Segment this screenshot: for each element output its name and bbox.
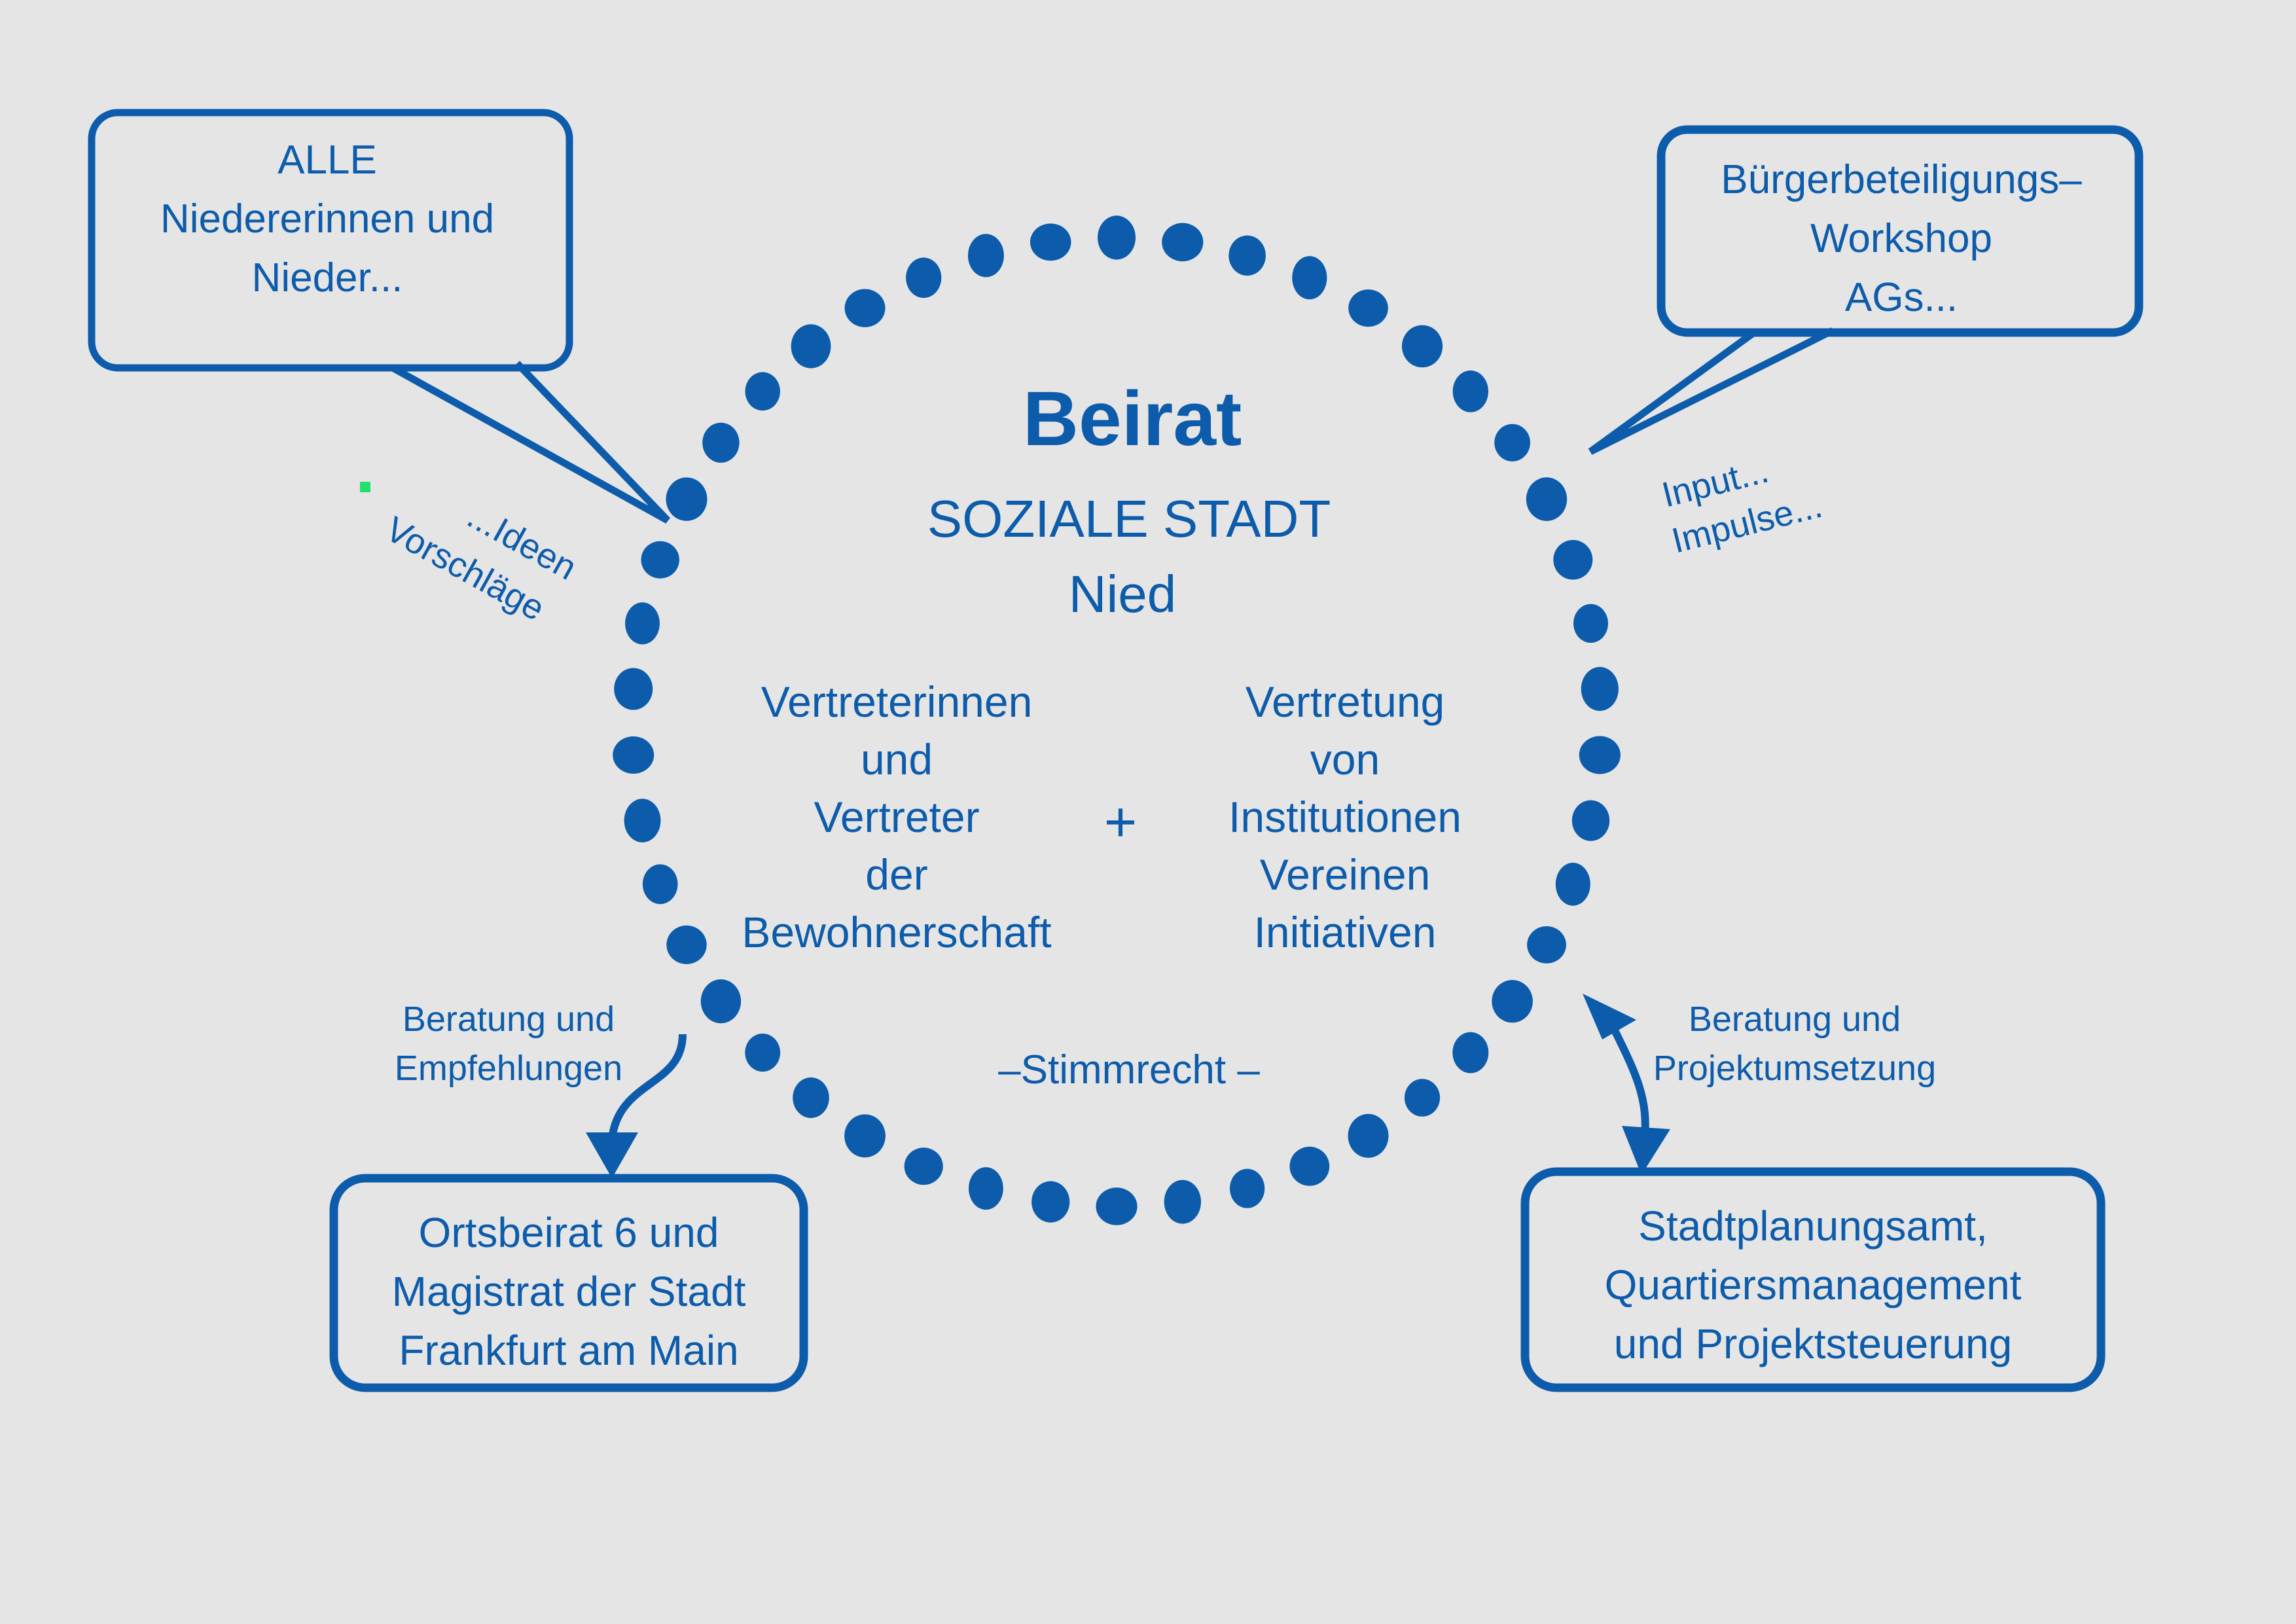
right-column-line-1: Vertretung — [1246, 677, 1445, 726]
left-column-line-3: Vertreter — [814, 793, 979, 841]
ring-dot — [1230, 1169, 1265, 1208]
ring-dot — [702, 423, 739, 463]
ring-dot — [1579, 736, 1621, 774]
speech-bubble-top-left-tail — [393, 363, 668, 520]
ring-dot — [1553, 540, 1592, 580]
ring-dot — [1402, 325, 1443, 368]
ring-dot — [625, 602, 660, 644]
arrow-left-lower-line — [612, 1034, 683, 1139]
ring-dot — [701, 979, 741, 1023]
bubble-top-left-line-3: Nieder... — [252, 255, 403, 300]
bubble-top-left-line-2: Niedererinnen und — [160, 196, 494, 242]
box-bottom-right-line-3: und Projektsteuerung — [1614, 1320, 2012, 1367]
ring-dot — [1229, 236, 1266, 276]
box-bottom-left-line-1: Ortsbeirat 6 und — [419, 1209, 719, 1256]
ring-dot — [791, 324, 831, 368]
ring-dot — [1348, 1114, 1389, 1158]
bubble-top-right-line-1: Bürgerbeteiligungs– — [1721, 157, 2082, 202]
ring-dot — [968, 234, 1004, 277]
left-column-line-5: Bewohnerschaft — [742, 908, 1051, 956]
voting-rights-note: –Stimmrecht – — [998, 1047, 1260, 1092]
diagram-canvas: Beirat SOZIALE STADT Nied Vertreterinnen… — [0, 0, 2296, 1624]
ring-dot — [1494, 424, 1530, 461]
ring-dot — [1289, 1147, 1329, 1186]
ring-dot — [745, 372, 780, 411]
bubble-top-left-line-1: ALLE — [278, 137, 377, 183]
ring-dot — [1527, 926, 1566, 964]
ring-dot — [1492, 980, 1533, 1022]
ring-dot — [666, 477, 708, 520]
ring-dot — [1452, 1032, 1488, 1074]
right-column-line-5: Initiativen — [1254, 908, 1437, 956]
annotation-right-lower-line-1: Beratung und — [1689, 1000, 1901, 1039]
ring-dot — [845, 289, 886, 327]
ring-dot — [1453, 370, 1488, 412]
arrow-right-lower-head-up-icon — [1583, 994, 1636, 1039]
box-bottom-right-line-1: Stadtplanungsamt, — [1638, 1202, 1988, 1250]
ring-dot — [613, 736, 654, 774]
beirat-diagram: Beirat SOZIALE STADT Nied Vertreterinnen… — [0, 0, 2296, 1624]
ring-dot — [624, 799, 661, 842]
ring-dot — [1348, 289, 1388, 327]
ring-dot — [1581, 667, 1619, 711]
ring-dot — [1162, 223, 1203, 262]
annotation-left-lower-line-2: Empfehlungen — [395, 1049, 622, 1088]
arrow-right-lower-line — [1610, 1021, 1645, 1142]
ring-dot — [793, 1077, 829, 1118]
ring-dot — [666, 926, 706, 964]
ring-dot — [969, 1167, 1003, 1210]
left-column-line-2: und — [861, 735, 933, 784]
left-column-line-1: Vertreterinnen — [761, 677, 1033, 726]
ring-dot — [1292, 256, 1327, 299]
ring-dot — [905, 1147, 943, 1185]
ring-dot — [1526, 477, 1567, 521]
ring-dot — [1556, 863, 1590, 906]
ring-dot — [1405, 1079, 1440, 1117]
ring-dot — [1098, 215, 1136, 259]
ring-dot — [643, 864, 678, 904]
annotation-right-lower-line-2: Projektumsetzung — [1653, 1049, 1936, 1088]
speech-bubble-top-right-tail — [1590, 331, 1833, 452]
ring-dot — [1572, 801, 1609, 841]
ring-dot — [745, 1034, 780, 1072]
green-marker-dot — [360, 482, 370, 492]
arrow-left-lower-head-down-icon — [586, 1132, 638, 1178]
center-title: Beirat — [1023, 376, 1242, 462]
annotation-left-lower-line-1: Beratung und — [403, 1000, 615, 1039]
ring-dot — [614, 668, 653, 710]
ring-dot — [1164, 1180, 1201, 1224]
box-bottom-left-line-2: Magistrat der Stadt — [392, 1268, 746, 1315]
ring-dot — [1031, 1182, 1069, 1223]
plus-operator: + — [1104, 791, 1137, 854]
ring-dot — [1573, 604, 1608, 643]
right-column-line-2: von — [1310, 735, 1380, 784]
ring-dot — [1096, 1187, 1137, 1225]
ring-dot — [906, 258, 941, 298]
right-column-line-4: Vereinen — [1260, 850, 1431, 899]
left-column-line-4: der — [865, 850, 927, 899]
bubble-top-right-line-3: AGs... — [1845, 275, 1958, 320]
box-bottom-right-line-2: Quartiersmanagement — [1605, 1261, 2022, 1308]
ring-dot — [844, 1114, 886, 1157]
right-column-line-3: Institutionen — [1229, 793, 1462, 841]
bubble-top-right-line-2: Workshop — [1810, 216, 1992, 261]
box-bottom-left-line-3: Frankfurt am Main — [399, 1327, 738, 1374]
center-subtitle-line1: SOZIALE STADT — [927, 490, 1331, 548]
center-subtitle-line2: Nied — [1069, 565, 1177, 623]
ring-dot — [1030, 224, 1071, 261]
ring-dot — [641, 541, 679, 579]
